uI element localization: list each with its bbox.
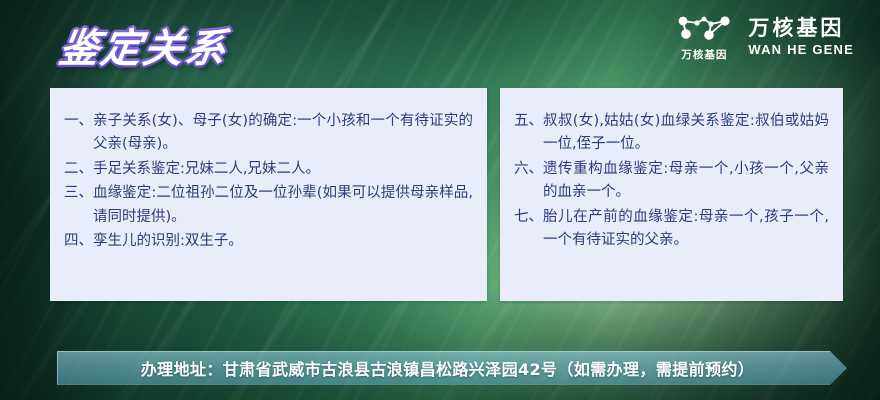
brand-names: 万核基因 WAN HE GENE	[748, 18, 854, 57]
list-item: 三、 血缘鉴定:二位祖孙二位及一位孙辈(如果可以提供母亲样品,请同时提供)。	[64, 182, 473, 229]
list-item-number: 一、	[64, 110, 93, 133]
list-item-number: 六、	[514, 158, 543, 181]
left-panel: 一、 亲子关系(女)、母子(女)的确定:一个小孩和一个有待证实的父亲(母亲)。 …	[50, 88, 487, 301]
list-item-text: 叔叔(女),姑姑(女)血绿关系鉴定:叔伯或姑妈一位,侄子一位。	[543, 110, 829, 157]
brand-name-en: WAN HE GENE	[748, 43, 854, 57]
list-item-number: 三、	[64, 182, 93, 205]
list-item-number: 四、	[64, 230, 93, 253]
list-item: 一、 亲子关系(女)、母子(女)的确定:一个小孩和一个有待证实的父亲(母亲)。	[64, 110, 473, 157]
molecule-network-icon	[676, 14, 732, 47]
content-panels: 一、 亲子关系(女)、母子(女)的确定:一个小孩和一个有待证实的父亲(母亲)。 …	[50, 88, 843, 301]
list-item-number: 七、	[514, 206, 543, 229]
brand-logo-caption: 万核基因	[681, 50, 727, 61]
list-item-text: 胎儿在产前的血缘鉴定:母亲一个,孩子一个,一个有待证实的父亲。	[543, 206, 829, 253]
header: 鉴定关系	[0, 0, 880, 88]
list-item: 四、 孪生儿的识别:双生子。	[64, 230, 473, 253]
list-item-text: 手足关系鉴定:兄妹二人,兄妹二人。	[93, 158, 473, 181]
list-item-number: 五、	[514, 110, 543, 133]
brand-lockup: 万核基因 万核基因 WAN HE GENE	[676, 14, 854, 61]
list-item: 五、 叔叔(女),姑姑(女)血绿关系鉴定:叔伯或姑妈一位,侄子一位。	[514, 110, 829, 157]
brand-mark: 万核基因	[676, 14, 732, 61]
right-panel: 五、 叔叔(女),姑姑(女)血绿关系鉴定:叔伯或姑妈一位,侄子一位。 六、 遗传…	[500, 88, 843, 301]
list-item: 七、 胎儿在产前的血缘鉴定:母亲一个,孩子一个,一个有待证实的父亲。	[514, 206, 829, 253]
address-bar: 办理地址：甘肃省武威市古浪县古浪镇昌松路兴泽园42号（如需办理，需提前预约）	[57, 351, 847, 385]
list-item: 二、 手足关系鉴定:兄妹二人,兄妹二人。	[64, 158, 473, 181]
list-item-text: 遗传重构血缘鉴定:母亲一个,小孩一个,父亲的血亲一个。	[543, 158, 829, 205]
poster-root: 鉴定关系	[0, 0, 880, 400]
brand-name-cn: 万核基因	[748, 18, 844, 40]
list-item-text: 孪生儿的识别:双生子。	[93, 230, 473, 253]
address-text: 办理地址：甘肃省武威市古浪县古浪镇昌松路兴泽园42号（如需办理，需提前预约）	[141, 356, 764, 380]
list-item-number: 二、	[64, 158, 93, 181]
page-title: 鉴定关系	[55, 16, 232, 74]
list-item-text: 亲子关系(女)、母子(女)的确定:一个小孩和一个有待证实的父亲(母亲)。	[93, 110, 473, 157]
list-item: 六、 遗传重构血缘鉴定:母亲一个,小孩一个,父亲的血亲一个。	[514, 158, 829, 205]
list-item-text: 血缘鉴定:二位祖孙二位及一位孙辈(如果可以提供母亲样品,请同时提供)。	[93, 182, 473, 229]
